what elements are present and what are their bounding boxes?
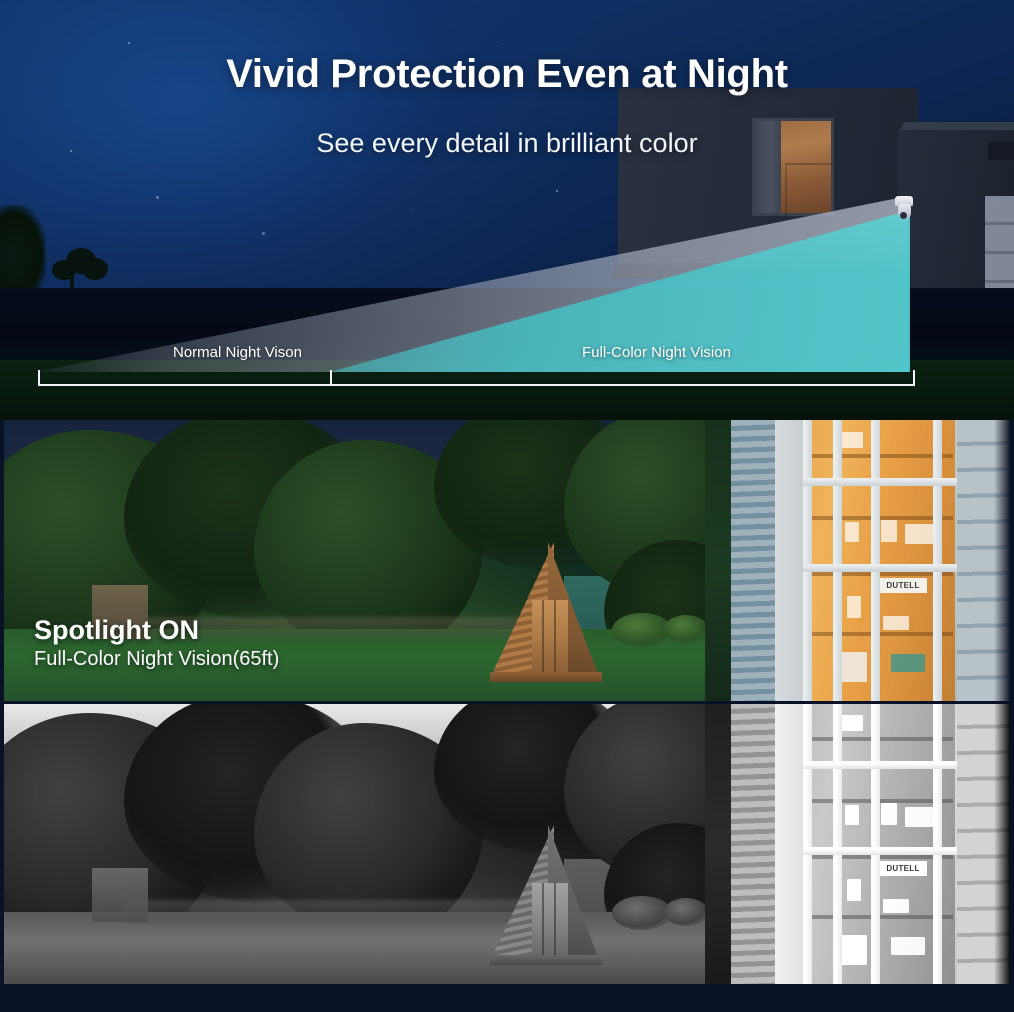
planter-box bbox=[92, 868, 148, 922]
window-shutter bbox=[731, 703, 775, 984]
cone-label-full-color: Full-Color Night Vision bbox=[582, 344, 731, 361]
interior-sign: DUTELL bbox=[879, 861, 927, 876]
cabin-door bbox=[532, 600, 568, 674]
shelf-item bbox=[841, 432, 863, 448]
security-camera-icon bbox=[893, 196, 915, 222]
right-border bbox=[1010, 420, 1014, 985]
tree-silhouette bbox=[0, 205, 46, 297]
a-frame-cabin bbox=[492, 825, 598, 957]
photo-garden-grayscale bbox=[4, 703, 705, 984]
shelf-item bbox=[841, 652, 867, 682]
caption-spotlight-on: Spotlight ON Full-Color Night Vision(65f… bbox=[34, 615, 279, 672]
window-mullion bbox=[833, 420, 842, 701]
left-border bbox=[0, 420, 4, 985]
caption-title: Spotlight ON bbox=[34, 615, 279, 645]
star-icon bbox=[556, 190, 558, 192]
product-feature-banner: Vivid Protection Even at Night See every… bbox=[0, 0, 1014, 1012]
shrub bbox=[664, 615, 705, 643]
ruler-tick-end bbox=[913, 370, 915, 386]
shelf-item bbox=[905, 524, 933, 544]
edge-shadow bbox=[994, 420, 1010, 701]
cabin-deck bbox=[490, 955, 602, 965]
window-mullion bbox=[803, 703, 812, 984]
shelf-item bbox=[881, 803, 897, 825]
window-shutter bbox=[731, 420, 775, 701]
shrub bbox=[664, 898, 705, 926]
lawn bbox=[4, 912, 705, 984]
shelf-item bbox=[883, 616, 909, 630]
star-icon bbox=[156, 196, 159, 199]
caption-subtitle: Full-Color Night Vision(65ft) bbox=[34, 647, 279, 672]
window-mullion bbox=[933, 420, 942, 701]
window-scene: DUTELL bbox=[705, 703, 1010, 984]
window-mullion bbox=[871, 420, 880, 701]
window-mullion bbox=[803, 420, 812, 701]
window-rail bbox=[803, 478, 963, 486]
shelf-item bbox=[905, 807, 933, 827]
cabin-door bbox=[532, 883, 568, 957]
star-icon bbox=[498, 46, 499, 47]
ruler-tick-divider bbox=[330, 370, 332, 386]
window-rail bbox=[803, 761, 963, 769]
star-icon bbox=[128, 42, 130, 44]
cabin-deck bbox=[490, 672, 602, 682]
shelf-item bbox=[845, 805, 859, 825]
shrub bbox=[612, 613, 672, 647]
star-icon bbox=[262, 232, 265, 235]
range-ruler bbox=[38, 368, 915, 386]
shrub bbox=[612, 896, 672, 930]
shelf-item bbox=[847, 879, 861, 901]
shelf-item bbox=[847, 596, 861, 618]
ruler-bar bbox=[38, 384, 915, 386]
page-subtitle: See every detail in brilliant color bbox=[0, 128, 1014, 159]
ruler-tick-start bbox=[38, 370, 40, 386]
window-pane bbox=[785, 163, 833, 215]
comparison-row-spotlight-off: DUTELL Spotlight OFF Normal Night Vison(… bbox=[4, 703, 1010, 984]
shelf-item bbox=[891, 654, 925, 672]
cone-label-normal: Normal Night Vison bbox=[173, 344, 302, 361]
shelf-item bbox=[841, 715, 863, 731]
bottom-border bbox=[0, 985, 1014, 1012]
garden-scene bbox=[4, 703, 705, 984]
shelf-item bbox=[883, 899, 909, 913]
shelf-item bbox=[881, 520, 897, 542]
star-icon bbox=[206, 118, 207, 119]
a-frame-cabin bbox=[492, 542, 598, 674]
star-icon bbox=[412, 210, 413, 211]
window-mullion bbox=[871, 703, 880, 984]
window-mullion bbox=[833, 703, 842, 984]
shelf-item bbox=[841, 935, 867, 965]
window-rail bbox=[803, 847, 963, 855]
house-wall bbox=[775, 703, 803, 984]
photo-window-grayscale: DUTELL bbox=[705, 703, 1010, 984]
row-divider bbox=[0, 701, 1014, 704]
camera-lens bbox=[900, 212, 907, 219]
comparison-row-spotlight-on: DUTELL Spotlight ON Full-Color Night Vis… bbox=[4, 420, 1010, 701]
window-rail bbox=[803, 564, 963, 572]
hero-section: Vivid Protection Even at Night See every… bbox=[0, 0, 1014, 420]
window-scene: DUTELL bbox=[705, 420, 1010, 701]
shelf-item bbox=[891, 937, 925, 955]
page-title: Vivid Protection Even at Night bbox=[0, 52, 1014, 97]
garden-path bbox=[124, 900, 544, 922]
house-wall bbox=[775, 420, 803, 701]
side-shrub bbox=[705, 420, 733, 701]
window-mullion bbox=[933, 703, 942, 984]
edge-shadow bbox=[994, 703, 1010, 984]
interior-sign: DUTELL bbox=[879, 578, 927, 593]
shelf-item bbox=[845, 522, 859, 542]
photo-window-color: DUTELL bbox=[705, 420, 1010, 701]
side-shrub bbox=[705, 703, 733, 984]
